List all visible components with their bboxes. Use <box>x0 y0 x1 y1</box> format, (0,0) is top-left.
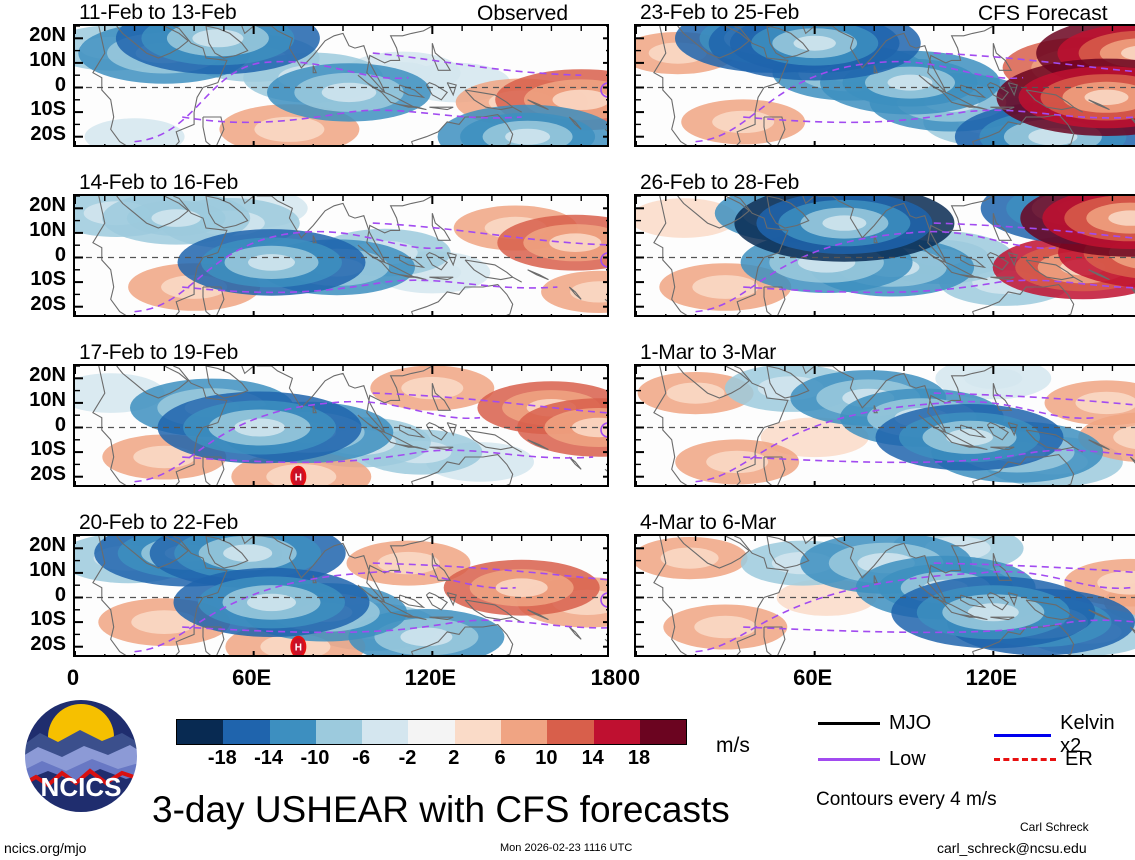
column-header-observed: Observed <box>477 2 568 26</box>
y-tick-label: 20S <box>0 293 66 316</box>
legend-item-mjo: MJO <box>818 712 931 735</box>
legend-line-swatch <box>818 758 880 761</box>
y-tick-label: 10S <box>0 268 66 291</box>
y-tick-label: 10S <box>0 98 66 121</box>
colorbar-tick-label: -14 <box>254 747 283 770</box>
panel-title-p3: 17-Feb to 19-Feb <box>79 341 238 365</box>
legend-label: ER <box>1065 748 1093 771</box>
legend-line-swatch <box>818 722 880 725</box>
map-panel-p3[interactable]: H <box>73 364 609 487</box>
colorbar-swatch <box>408 720 454 744</box>
y-tick-label: 0 <box>0 584 66 607</box>
colorbar-tick-label: 10 <box>535 747 557 770</box>
colorbar-tick-label: -6 <box>352 747 370 770</box>
x-tick-label: 60E <box>232 665 271 691</box>
colorbar-swatch <box>270 720 316 744</box>
legend-line-swatch <box>994 758 1056 761</box>
panel-title-p1: 11-Feb to 13-Feb <box>79 1 237 25</box>
svg-text:H: H <box>295 473 302 484</box>
logo-text: NCICS <box>41 772 122 802</box>
column-header-forecast: CFS Forecast <box>978 2 1108 26</box>
y-tick-label: 10N <box>0 219 66 242</box>
panel-title-p6: 26-Feb to 28-Feb <box>640 171 799 195</box>
panel-title-p5: 23-Feb to 25-Feb <box>640 1 799 25</box>
colorbar-swatch <box>547 720 593 744</box>
colorbar-swatch <box>316 720 362 744</box>
map-panel-p2[interactable] <box>73 194 609 317</box>
y-tick-label: 10N <box>0 49 66 72</box>
colorbar-swatch <box>594 720 640 744</box>
colorbar-tick-label: 14 <box>582 747 604 770</box>
legend-item-er: ER <box>994 748 1093 771</box>
y-tick-label: 0 <box>0 414 66 437</box>
y-tick-label: 20N <box>0 194 66 217</box>
panel-title-p4: 20-Feb to 22-Feb <box>79 511 238 535</box>
colorbar-tick-label: 18 <box>628 747 650 770</box>
map-panel-p1[interactable] <box>73 24 609 147</box>
colorbar-tick-label: 2 <box>448 747 459 770</box>
map-panel-p5[interactable] <box>634 24 1135 147</box>
map-panel-p6[interactable] <box>634 194 1135 317</box>
panel-title-p2: 14-Feb to 16-Feb <box>79 171 238 195</box>
timestamp: Mon 2026-02-23 1116 UTC <box>500 842 632 854</box>
author-credit: Carl Schreck <box>1020 820 1089 834</box>
contour-interval-note: Contours every 4 m/s <box>816 789 997 811</box>
colorbar: -18-14-10-6-226101418 <box>176 719 687 745</box>
colorbar-units: m/s <box>716 734 750 758</box>
x-tick-label: 120E <box>966 665 1017 691</box>
colorbar-tick-label: 6 <box>495 747 506 770</box>
contact-email[interactable]: carl_schreck@ncsu.edu <box>937 840 1087 856</box>
colorbar-swatch <box>501 720 547 744</box>
legend-line-swatch <box>994 734 1051 737</box>
map-panel-p8[interactable] <box>634 534 1135 657</box>
colorbar-tick-label: -2 <box>399 747 417 770</box>
colorbar-strip <box>176 719 687 745</box>
figure-title: 3-day USHEAR with CFS forecasts <box>152 789 730 831</box>
colorbar-swatch <box>455 720 501 744</box>
site-link[interactable]: ncics.org/mjo <box>4 840 86 856</box>
y-tick-label: 20N <box>0 24 66 47</box>
colorbar-swatch <box>223 720 269 744</box>
y-tick-label: 0 <box>0 74 66 97</box>
x-tick-label: 0 <box>628 665 640 691</box>
colorbar-swatch <box>177 720 223 744</box>
y-tick-label: 10N <box>0 559 66 582</box>
colorbar-swatch <box>362 720 408 744</box>
y-tick-label: 20N <box>0 364 66 387</box>
y-tick-label: 10S <box>0 438 66 461</box>
y-tick-label: 20S <box>0 123 66 146</box>
y-tick-label: 10S <box>0 608 66 631</box>
colorbar-tick-label: -18 <box>208 747 237 770</box>
map-panel-p7[interactable] <box>634 364 1135 487</box>
colorbar-swatch <box>640 720 686 744</box>
colorbar-tick-label: -10 <box>300 747 329 770</box>
legend-label: MJO <box>889 712 931 735</box>
y-tick-label: 0 <box>0 244 66 267</box>
y-tick-label: 20S <box>0 463 66 486</box>
y-tick-label: 20S <box>0 633 66 656</box>
x-tick-label: 120E <box>405 665 456 691</box>
y-tick-label: 10N <box>0 389 66 412</box>
ncics-logo: NCICS <box>22 697 140 815</box>
y-tick-label: 20N <box>0 534 66 557</box>
svg-text:H: H <box>295 643 302 654</box>
legend-item-low: Low <box>818 748 926 771</box>
x-tick-label: 0 <box>67 665 79 691</box>
x-tick-label: 60E <box>793 665 832 691</box>
map-panel-p4[interactable]: H <box>73 534 609 657</box>
panel-title-p8: 4-Mar to 6-Mar <box>640 511 776 535</box>
legend-label: Low <box>889 748 926 771</box>
panel-title-p7: 1-Mar to 3-Mar <box>640 341 776 365</box>
x-tick-label: 180 <box>591 665 628 691</box>
